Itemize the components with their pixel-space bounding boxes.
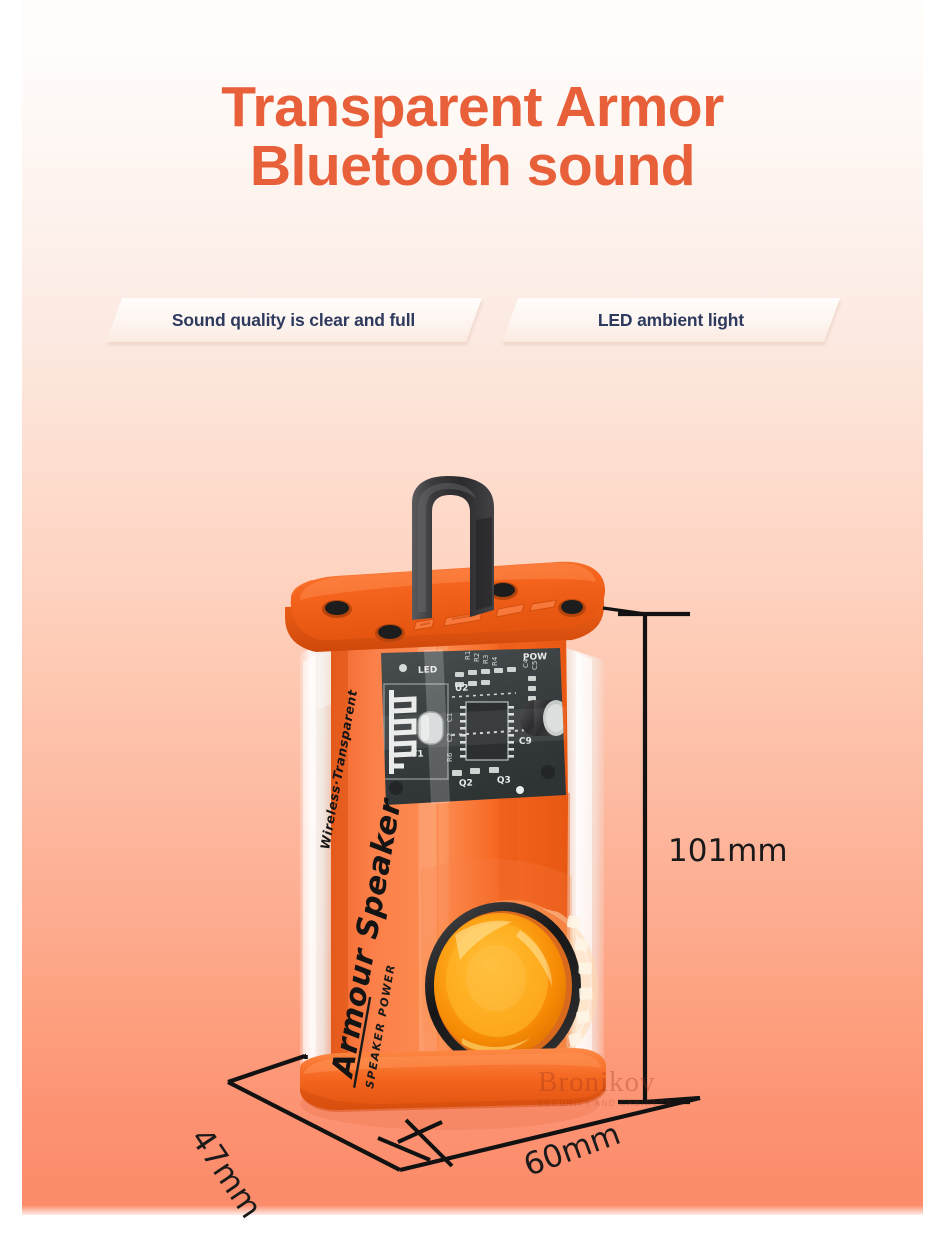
feature-badge-sound-quality[interactable]: Sound quality is clear and full [105,298,481,342]
page-title: Transparent Armor Bluetooth sound [0,78,945,195]
dimension-label-height: 101mm [668,833,788,869]
product-marketing-page: Transparent Armor Bluetooth sound Sound … [0,0,945,1233]
feature-badge-label: LED ambient light [597,310,743,331]
feature-badge-list: Sound quality is clear and full LED ambi… [0,298,945,342]
feature-badge-label: Sound quality is clear and full [172,310,415,331]
feature-badge-led-light[interactable]: LED ambient light [501,298,839,342]
